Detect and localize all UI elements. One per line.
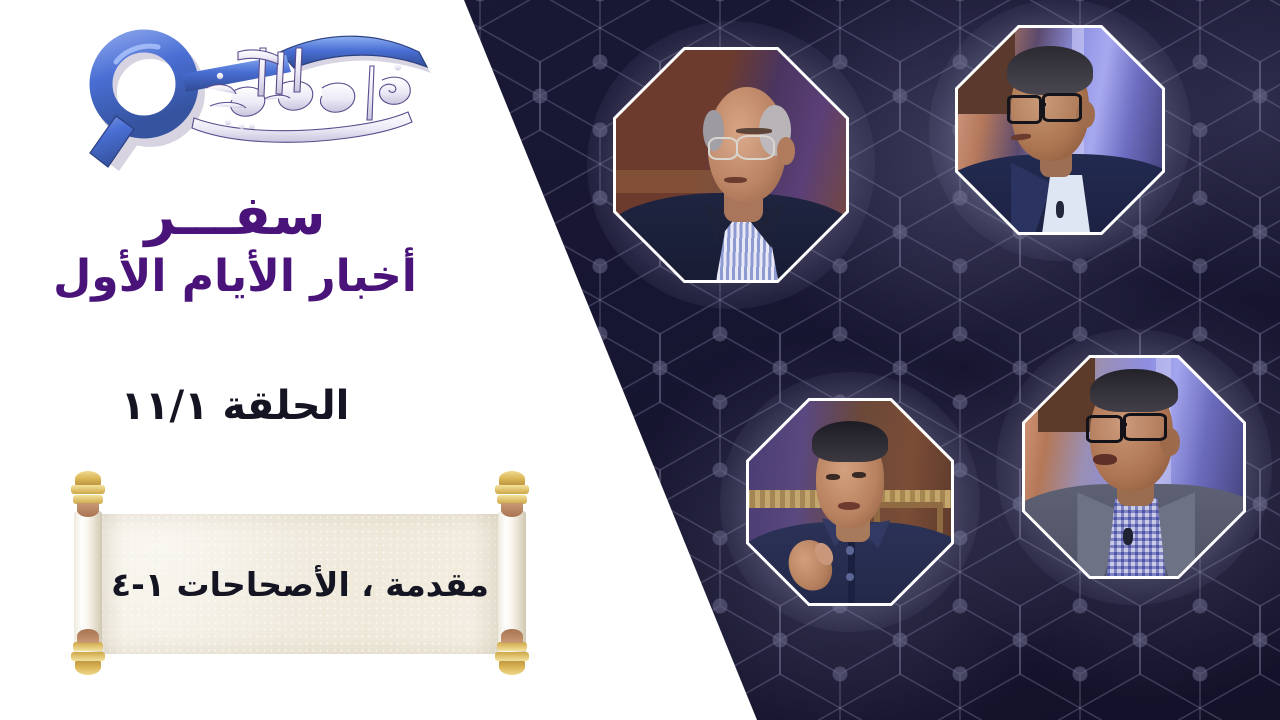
portrait-guest-2	[955, 25, 1165, 235]
portrait-guest-4	[1022, 355, 1246, 579]
book-name-label: أخبار الأيام الأول	[0, 249, 470, 305]
finial-bottom-right	[493, 633, 531, 675]
book-word-label: سفـــر	[0, 188, 470, 245]
episode-title-card: سفـــر أخبار الأيام الأول الحلقة ١١/١ مق…	[0, 0, 1280, 720]
finial-bottom-left	[69, 633, 107, 675]
episode-label: الحلقة ١١/١	[0, 383, 470, 429]
book-title-block: سفـــر أخبار الأيام الأول	[0, 188, 470, 305]
scroll-banner: مقدمة ، الأصحاحات ١-٤	[60, 489, 540, 679]
scroll-caption: مقدمة ، الأصحاحات ١-٤	[86, 514, 514, 654]
portrait-guest-3	[746, 398, 954, 606]
portrait-guest-1	[613, 47, 849, 283]
finial-top-left	[69, 471, 107, 513]
finial-top-right	[493, 471, 531, 513]
left-content-column: سفـــر أخبار الأيام الأول الحلقة ١١/١ مق…	[0, 0, 470, 720]
portrait-image	[616, 50, 846, 280]
program-logo	[82, 22, 442, 177]
